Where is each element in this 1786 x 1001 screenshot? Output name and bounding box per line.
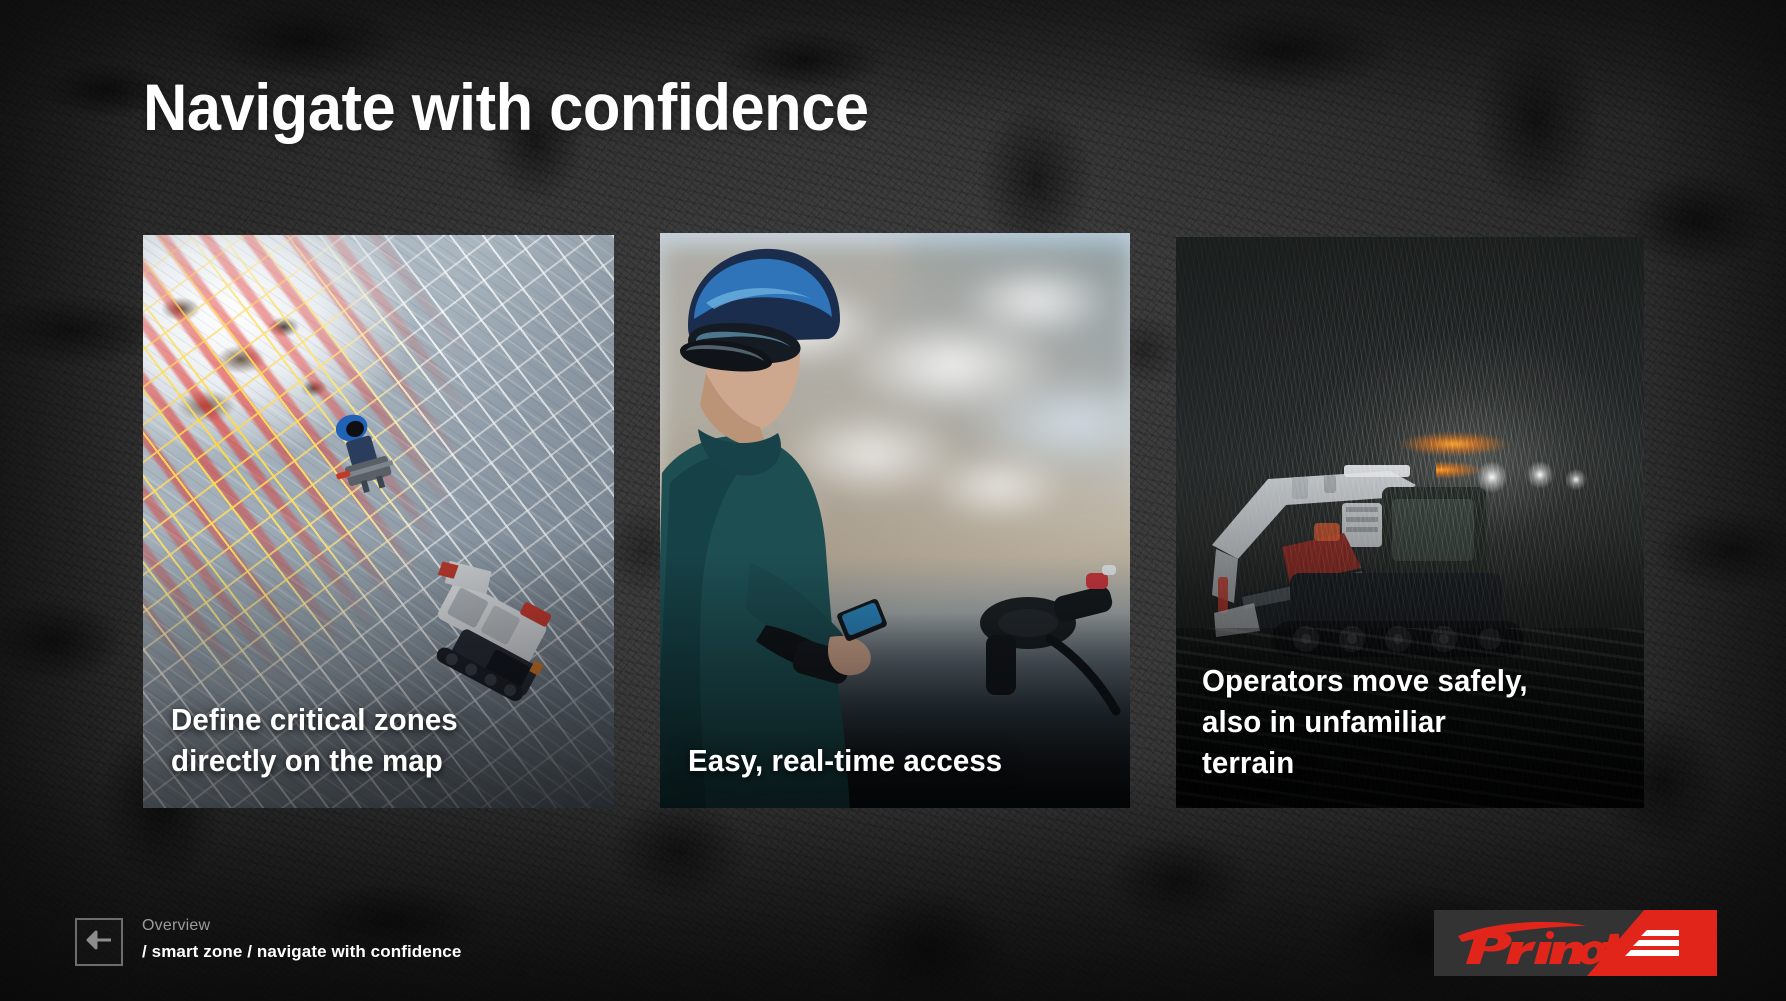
- breadcrumb-path[interactable]: / smart zone / navigate with confidence: [142, 941, 461, 963]
- svg-text:®: ®: [1614, 933, 1619, 940]
- feature-card-define-zones[interactable]: Define critical zones directly on the ma…: [143, 235, 614, 808]
- feature-card-realtime-access[interactable]: Easy, real-time access: [660, 233, 1130, 808]
- breadcrumb-overview-label[interactable]: Overview: [142, 916, 461, 936]
- prinoth-logo[interactable]: ®: [1434, 910, 1717, 976]
- card-image-operator-phone: [660, 233, 1130, 808]
- back-button[interactable]: [75, 918, 123, 966]
- page-title: Navigate with confidence: [143, 74, 869, 140]
- logo-wordmark: ®: [1454, 920, 1619, 966]
- arrow-left-icon: [86, 930, 112, 955]
- feature-card-operator-safety[interactable]: Operators move safely, also in unfamilia…: [1176, 237, 1644, 808]
- breadcrumb: Overview / smart zone / navigate with co…: [142, 916, 461, 963]
- prinoth-stripes-icon: [1621, 930, 1687, 958]
- card-caption: Define critical zones directly on the ma…: [171, 700, 577, 782]
- card-caption: Operators move safely, also in unfamilia…: [1202, 661, 1607, 784]
- card-caption: Easy, real-time access: [688, 741, 1093, 782]
- card-bottom-scrim: [660, 233, 1130, 808]
